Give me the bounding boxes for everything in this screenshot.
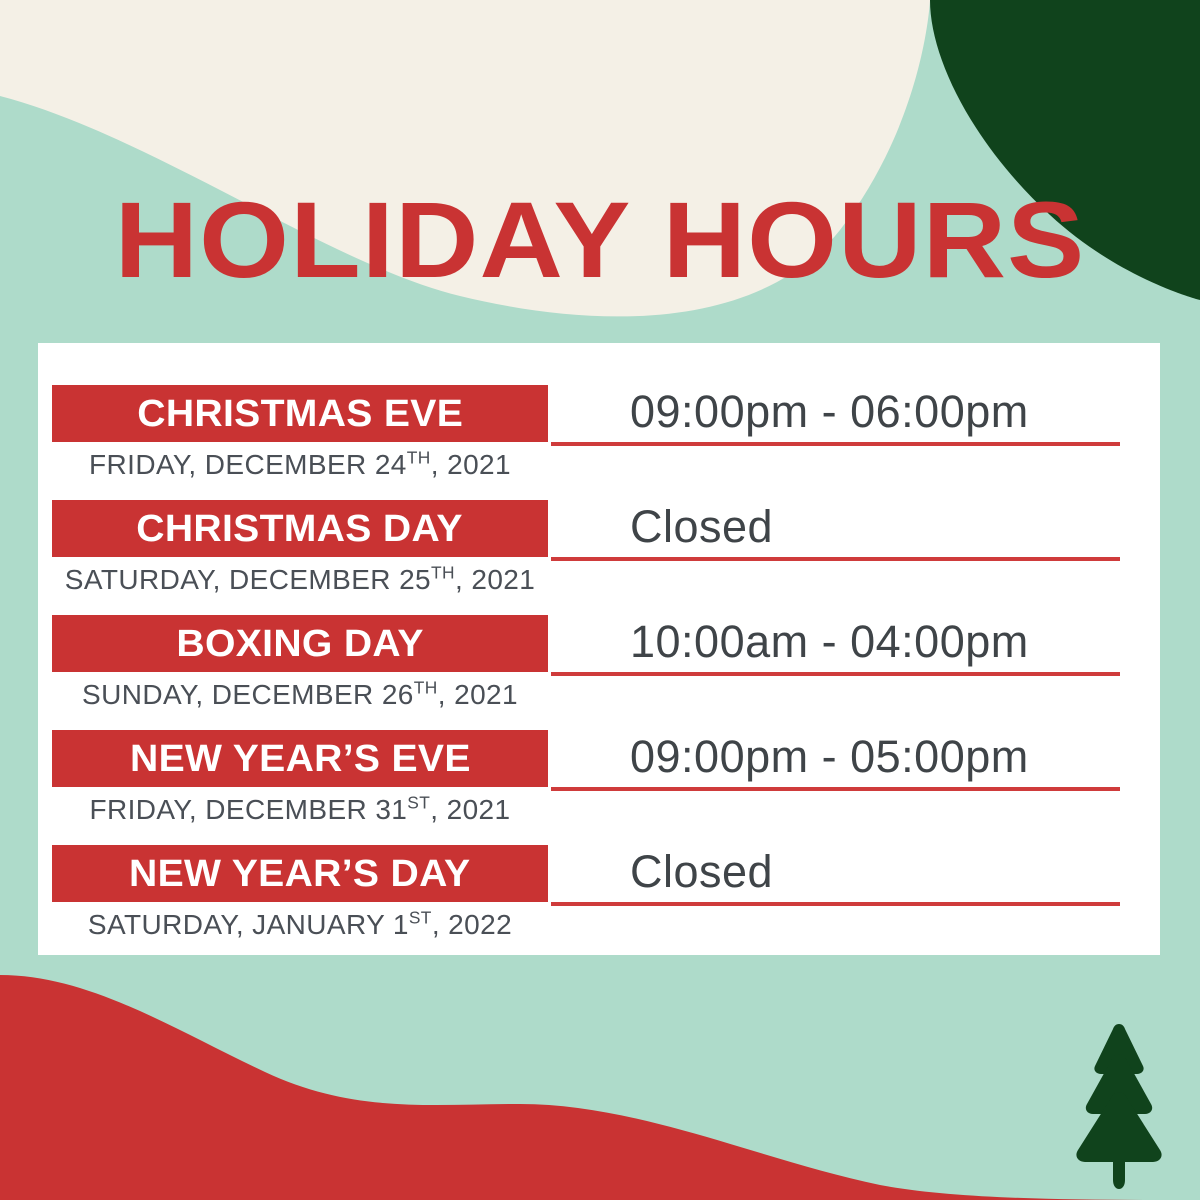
holiday-hours: 10:00am - 04:00pm xyxy=(630,613,1029,671)
date-ordinal-suffix: TH xyxy=(414,678,438,698)
row-underline xyxy=(551,672,1120,676)
holiday-label-bar: NEW YEAR’S EVE xyxy=(52,730,548,787)
date-ordinal-suffix: TH xyxy=(431,563,455,583)
date-year: , 2021 xyxy=(430,794,510,825)
row-underline xyxy=(551,442,1120,446)
holiday-label-bar: CHRISTMAS EVE xyxy=(52,385,548,442)
holiday-name: CHRISTMAS DAY xyxy=(137,510,464,548)
hours-card: CHRISTMAS EVE 09:00pm - 06:00pm FRIDAY, … xyxy=(38,343,1160,955)
holiday-name: BOXING DAY xyxy=(176,625,423,663)
date-ordinal-suffix: ST xyxy=(409,908,432,928)
table-row: BOXING DAY 10:00am - 04:00pm SUNDAY, DEC… xyxy=(38,615,1160,730)
holiday-hours: Closed xyxy=(630,498,773,556)
table-row: CHRISTMAS EVE 09:00pm - 06:00pm FRIDAY, … xyxy=(38,385,1160,500)
date-weekday: SUNDAY, DECEMBER 26 xyxy=(82,679,414,710)
date-weekday: SATURDAY, DECEMBER 25 xyxy=(65,564,431,595)
date-year: , 2022 xyxy=(432,909,512,940)
holiday-hours: 09:00pm - 05:00pm xyxy=(630,728,1029,786)
holiday-name: NEW YEAR’S EVE xyxy=(130,740,471,778)
holiday-hours: Closed xyxy=(630,843,773,901)
row-underline xyxy=(551,787,1120,791)
date-ordinal-suffix: TH xyxy=(407,448,431,468)
holiday-label-bar: CHRISTMAS DAY xyxy=(52,500,548,557)
holiday-date: SUNDAY, DECEMBER 26TH, 2021 xyxy=(52,677,548,713)
holiday-name: NEW YEAR’S DAY xyxy=(129,855,470,893)
holiday-name: CHRISTMAS EVE xyxy=(137,395,463,433)
holiday-label-bar: NEW YEAR’S DAY xyxy=(52,845,548,902)
date-weekday: FRIDAY, DECEMBER 31 xyxy=(90,794,408,825)
holiday-hours: 09:00pm - 06:00pm xyxy=(630,383,1029,441)
holiday-date: FRIDAY, DECEMBER 24TH, 2021 xyxy=(52,447,548,483)
table-row: NEW YEAR’S EVE 09:00pm - 05:00pm FRIDAY,… xyxy=(38,730,1160,845)
table-row: NEW YEAR’S DAY Closed SATURDAY, JANUARY … xyxy=(38,845,1160,960)
row-underline xyxy=(551,902,1120,906)
holiday-date: SATURDAY, DECEMBER 25TH, 2021 xyxy=(52,562,548,598)
date-ordinal-suffix: ST xyxy=(407,793,430,813)
page-title: HOLIDAY HOURS xyxy=(0,186,1200,294)
date-weekday: FRIDAY, DECEMBER 24 xyxy=(89,449,407,480)
holiday-date: SATURDAY, JANUARY 1ST, 2022 xyxy=(52,907,548,943)
christmas-tree-icon xyxy=(1070,1022,1168,1190)
date-weekday: SATURDAY, JANUARY 1 xyxy=(88,909,409,940)
holiday-label-bar: BOXING DAY xyxy=(52,615,548,672)
date-year: , 2021 xyxy=(431,449,511,480)
holiday-date: FRIDAY, DECEMBER 31ST, 2021 xyxy=(52,792,548,828)
row-underline xyxy=(551,557,1120,561)
table-row: CHRISTMAS DAY Closed SATURDAY, DECEMBER … xyxy=(38,500,1160,615)
date-year: , 2021 xyxy=(455,564,535,595)
date-year: , 2021 xyxy=(438,679,518,710)
holiday-hours-poster: HOLIDAY HOURS CHRISTMAS EVE 09:00pm - 06… xyxy=(0,0,1200,1200)
